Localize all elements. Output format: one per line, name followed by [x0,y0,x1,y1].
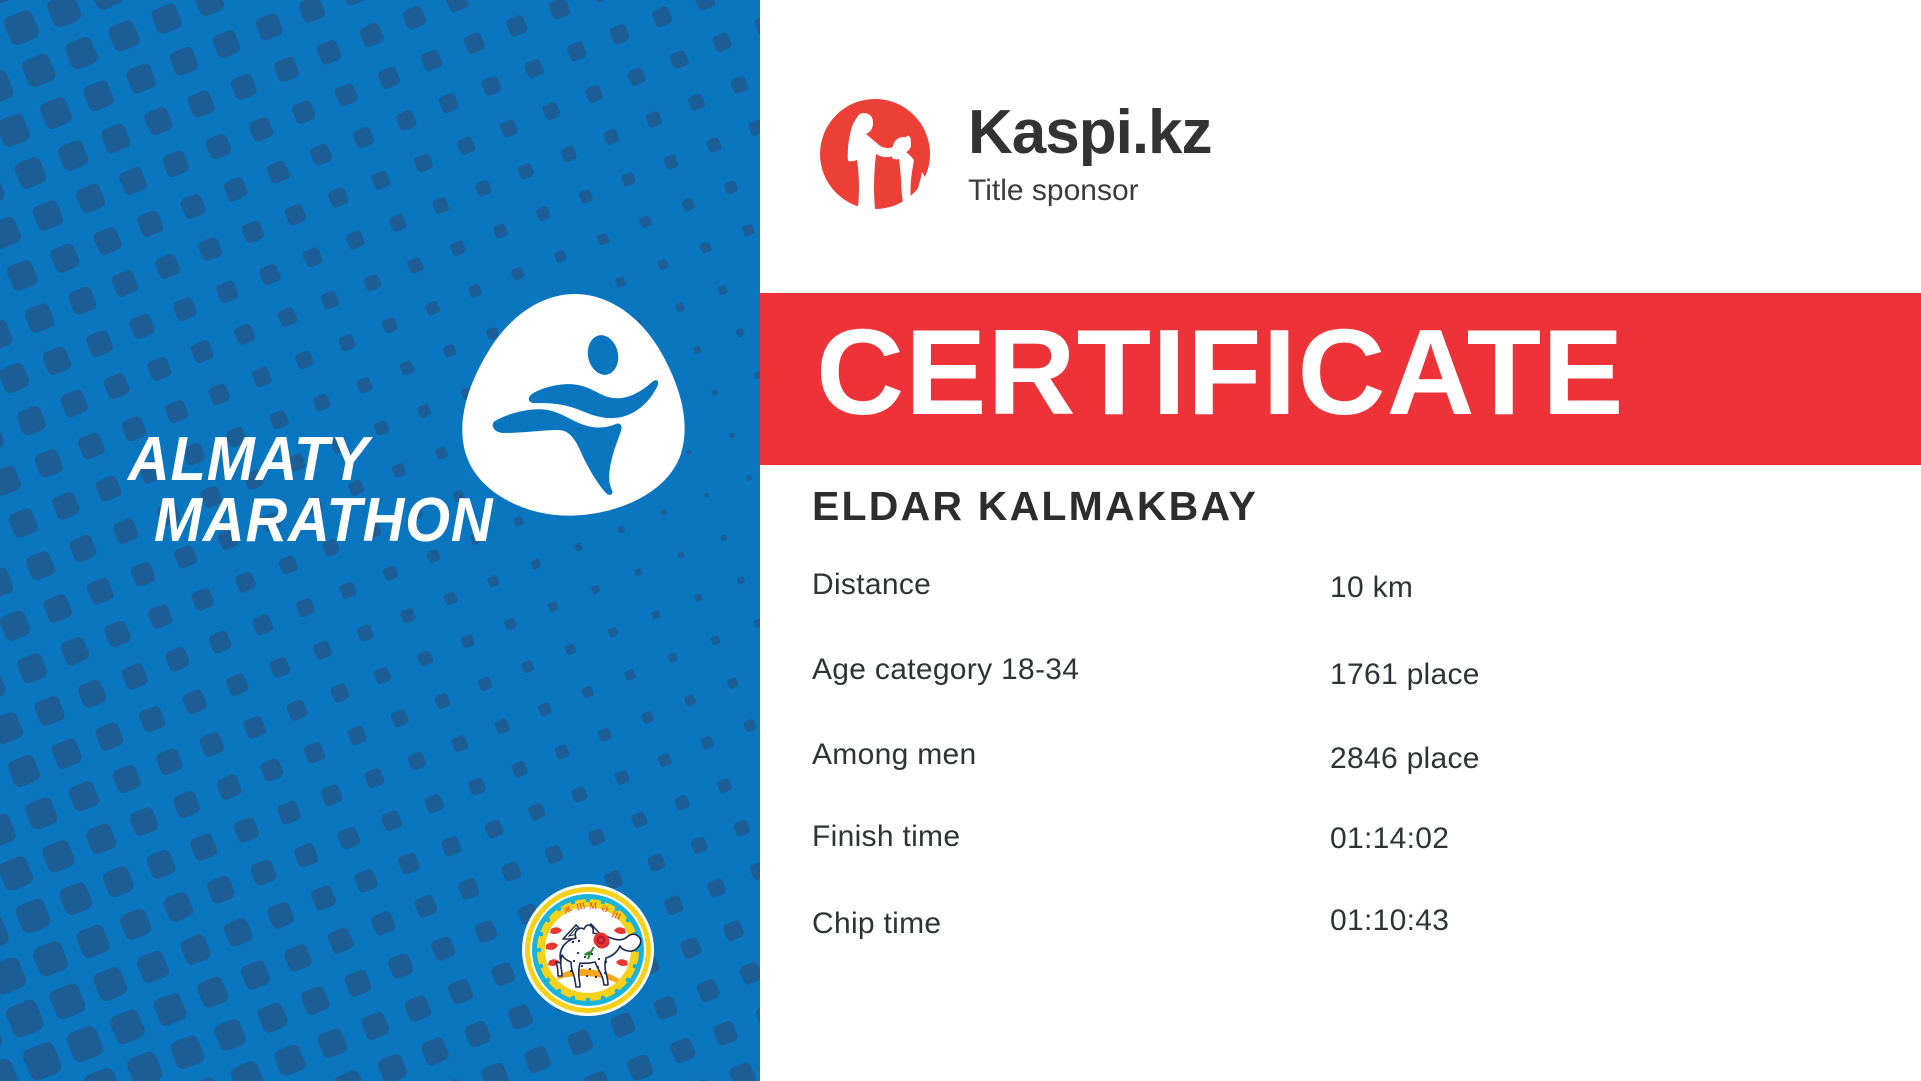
certificate-page: ALMATY MARATHON [0,0,1921,1081]
title-sponsor-block: Kaspi.kz Title sponsor [816,95,1212,225]
table-row: Finish time 01:14:02 [812,694,1872,736]
table-row: Distance 10 km [812,568,1872,610]
sponsor-role-label: Title sponsor [968,176,1212,206]
almaty-marathon-wordmark: ALMATY MARATHON [128,430,612,552]
marathon-wordmark-line-1: ALMATY [128,430,612,491]
table-row: Age category 18-34 1761 place [812,610,1872,652]
table-row: Among men 2846 place [812,652,1872,694]
certificate-title: CERTIFICATE [816,286,1624,458]
almaty-marathon-logo: ALMATY MARATHON [0,290,760,620]
table-row: Chip time 01:10:43 [812,736,1872,778]
result-label: Distance [812,568,931,602]
marathon-wordmark-line-2: MARATHON [154,491,612,552]
result-label: Chip time [812,907,941,941]
kaspi-family-circle-icon [816,95,934,213]
athlete-name: ELDAR KALMAKBAY [812,483,1258,530]
sponsor-name: Kaspi.kz [968,102,1212,164]
left-blue-panel: ALMATY MARATHON [0,0,760,1081]
almaty-city-emblem-icon: Ж Ш М Ә Ш [521,883,655,1017]
svg-text:М: М [589,901,597,911]
results-table: Distance 10 km Age category 18-34 1761 p… [812,568,1872,778]
certificate-banner: CERTIFICATE [760,293,1921,465]
result-value: 01:10:43 [1330,904,1449,938]
right-content-area: Kaspi.kz Title sponsor CERTIFICATE ELDAR… [760,0,1921,1081]
result-label: Finish time [812,820,960,854]
result-value: 10 km [1330,571,1413,605]
result-value: 01:14:02 [1330,822,1449,856]
